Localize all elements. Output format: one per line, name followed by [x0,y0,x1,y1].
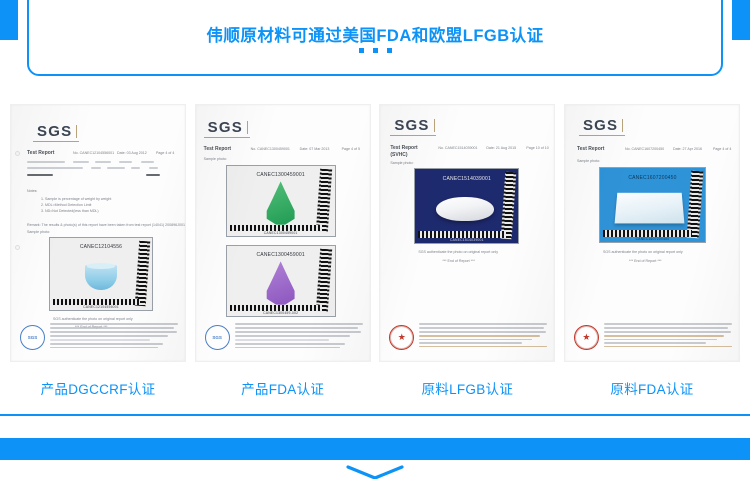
end-of-report-note: *** End of Report *** [442,259,475,263]
doc-line [119,161,132,163]
doc-line [27,174,53,176]
header-dot-1 [359,48,364,53]
quality-seal-stamp: ★ [389,325,414,350]
report-date: Date: 21 Aug 2015 [486,146,516,150]
report-number: No. CANEC1300459001 [251,147,290,151]
sgs-logo: SGS [583,117,618,134]
note-item: 3. ND=Not Detected(less than MDL) [41,209,99,213]
report-label-svhc: (SVHC) [390,152,407,158]
doc-line [27,167,83,169]
certificate-scan-2[interactable]: SGS Test Report No. CANEC1300459001 Date… [195,104,371,362]
hole-punch-icon [15,151,20,156]
sample-photo-label: Sample photo: [204,157,227,161]
footer-lines [419,323,547,349]
footer-lines [604,323,732,349]
note-item: 1. Sample is percentage of weight by wei… [41,197,111,201]
doc-line [149,167,158,169]
sample-shape-purple-drop [262,261,299,304]
certificate-scan-3[interactable]: SGS Test Report (SVHC) No. CANEC15140390… [379,104,555,362]
sample-photo-caption: CANEC1514039001 [415,238,518,242]
bottom-accent-bar [0,438,750,460]
report-label: Test Report [577,146,604,152]
doc-line [91,167,101,169]
report-number: No. CANEC1607200450 [625,147,664,151]
decorative-block-left [0,0,18,40]
report-date: Date: 27 Apr 2016 [673,147,702,151]
report-date: Date: 07 Mar 2013 [300,147,330,151]
report-label: Test Report [204,146,231,152]
sgs-logo: SGS [37,123,72,140]
report-label: Test Report [27,150,54,156]
sample-photo-1: CANEC1514039001 CANEC1514039001 [414,168,519,244]
certificate-scan-1[interactable]: SGS Test Report No. CANEC12104556001 Dat… [10,104,186,362]
sample-photo-code: CANEC1300459001 [227,252,335,258]
header-subtitle: 伟顺原材料可通过美国FDA和欧盟LFGB认证 [29,22,721,46]
sample-photo-label: Sample photo: [577,159,600,163]
report-page: Page 4 of 5 [342,147,360,151]
end-of-report-note: *** End of Report *** [629,259,662,263]
star-icon: ★ [398,333,406,342]
certificate-footer-strip: SGS [18,321,178,355]
section-divider-line [0,414,750,416]
doc-line [73,161,89,163]
sample-photo-code: CANEC12104556 [50,244,152,250]
report-page: Page 4 of 4 [713,147,731,151]
hole-punch-icon [15,245,20,250]
sample-photo-code: CANEC1607200450 [600,175,705,181]
authenticate-note: SGS authenticate the photo on original r… [418,250,498,254]
sample-photo-caption: CANEC1300459001 [227,231,335,235]
footer-lines [235,323,363,350]
doc-line [146,174,160,176]
certificate-caption-4: 原料FDA认证 [564,378,740,398]
quality-seal-stamp: ★ [574,325,599,350]
sample-shape-sheet [614,193,684,224]
certificate-caption-2: 产品FDA认证 [195,378,371,398]
certificate-caption-3: 原料LFGB认证 [379,378,555,398]
ruler-vertical [687,171,703,238]
sample-photo-1: CANEC1300459001 CANEC1300459001 [226,165,336,237]
sample-photo-caption: CANEC1607200450 [600,237,705,241]
certificate-grid: SGS Test Report No. CANEC12104556001 Dat… [0,104,750,398]
sample-photo-1: CANEC1607200450 CANEC1607200450 [599,167,706,243]
certificate-footer-strip: ★ [572,321,732,355]
chevron-down-icon[interactable] [346,465,404,479]
sample-photo-caption: CANEC1300459-002 [227,311,335,315]
doc-line [95,161,111,163]
sgs-stamp: SGS [20,325,45,350]
report-remark: Remark: The results & photo(s) of this r… [27,223,186,227]
authenticate-note: SGS authenticate the photo on original r… [603,250,683,254]
doc-line [107,167,125,169]
sample-photo-2: CANEC1300459001 CANEC1300459-002 [226,245,336,317]
sample-photo-caption: CANEC12104556001 [50,305,152,309]
sample-shape-pebble [436,197,494,221]
doc-line [131,167,140,169]
certificate-item-1[interactable]: SGS Test Report No. CANEC12104556001 Dat… [10,104,186,398]
report-date: Date: 03 Aug 2012 [117,151,147,155]
sample-photo-code: CANEC1300459001 [227,172,335,178]
certificate-item-4[interactable]: SGS Test Report No. CANEC1607200450 Date… [564,104,740,398]
header-frame: 权威认证 伟顺原材料可通过美国FDA和欧盟LFGB认证 [27,0,723,76]
note-item: 2. MDL=Method Detection Limit [41,203,91,207]
header-dot-3 [387,48,392,53]
sample-photo-label: Sample photo: [27,230,50,234]
sample-shape-bowl [85,265,118,289]
star-icon: ★ [582,333,590,342]
report-page: Page 10 of 10 [526,146,548,150]
certificate-caption-1: 产品DGCCRF认证 [10,378,186,398]
report-label: Test Report [390,145,417,151]
sample-shape-green-cone [262,181,299,224]
sample-photo-1: CANEC12104556 CANEC12104556001 [49,237,153,311]
report-number: No. CANEC1514039001 [438,146,477,150]
ruler-vertical [501,172,517,239]
sample-photo-code: CANEC1514039001 [415,176,518,182]
certificate-item-3[interactable]: SGS Test Report (SVHC) No. CANEC15140390… [379,104,555,398]
doc-line [141,161,154,163]
sample-photo-label: Sample photo: [390,161,413,165]
header-dot-row [29,48,721,53]
notes-label: Notes: [27,189,37,193]
sgs-logo: SGS [394,117,429,134]
decorative-block-right [732,0,750,40]
report-page: Page 4 of 4 [156,151,174,155]
report-number: No. CANEC12104556001 [73,151,114,155]
certificate-footer-strip: SGS [203,321,363,355]
sgs-logo: SGS [208,119,243,136]
sgs-stamp: SGS [205,325,230,350]
certificate-scan-4[interactable]: SGS Test Report No. CANEC1607200450 Date… [564,104,740,362]
certificate-footer-strip: ★ [387,321,547,355]
footer-lines [50,323,178,350]
doc-line [27,161,65,163]
header-dot-2 [373,48,378,53]
certificate-item-2[interactable]: SGS Test Report No. CANEC1300459001 Date… [195,104,371,398]
